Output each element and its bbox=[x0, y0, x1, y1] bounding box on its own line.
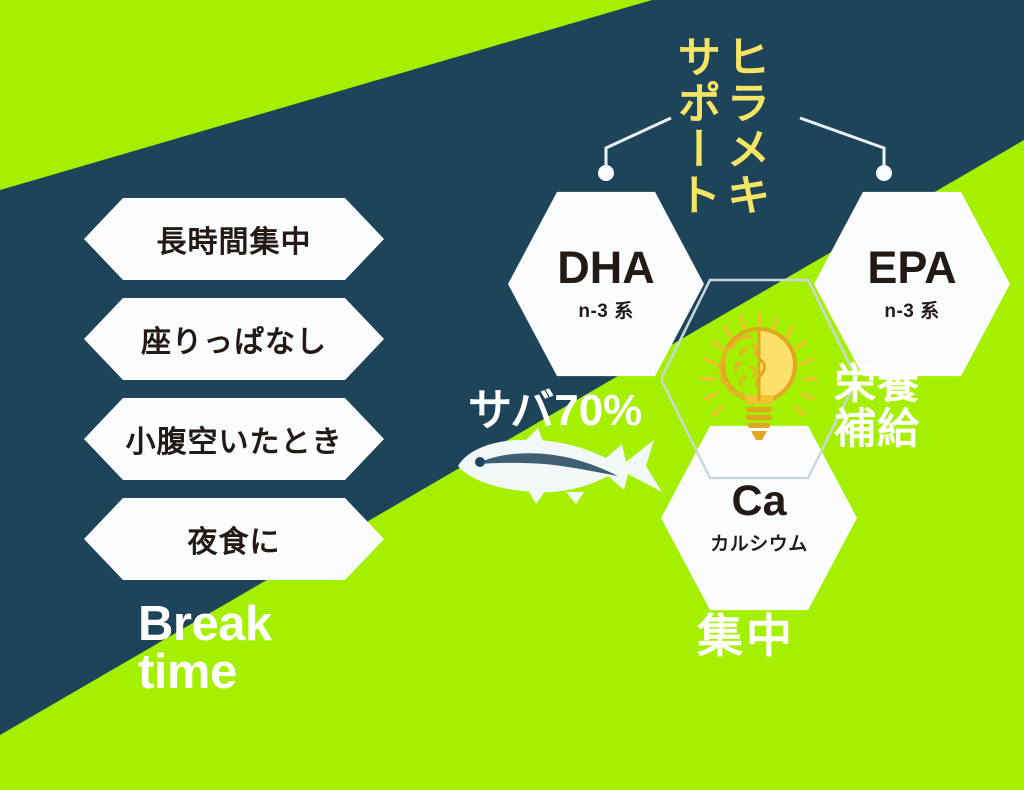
hex-ca-title: Ca bbox=[732, 480, 787, 523]
nutrition-line1: 栄養 bbox=[834, 362, 920, 407]
hex-ca-subtitle: カルシウム bbox=[710, 529, 808, 556]
connector-dot-right bbox=[876, 165, 892, 181]
nutrition-line2: 補給 bbox=[834, 407, 920, 452]
hex-epa-subtitle: n-3 系 bbox=[884, 296, 939, 323]
banner-label: 座りっぱなし bbox=[141, 317, 327, 361]
banner-label: 小腹空いたとき bbox=[126, 417, 343, 461]
hex-center-outline bbox=[661, 274, 857, 484]
banner-label: 夜食に bbox=[188, 517, 281, 561]
hex-epa-title: EPA bbox=[867, 245, 956, 290]
nutrition-caption: 栄養 補給 bbox=[834, 362, 920, 451]
connector-dot-left bbox=[598, 165, 614, 181]
connector-right bbox=[800, 118, 884, 165]
banner-label: 長時間集中 bbox=[157, 217, 312, 261]
focus-caption: 集中 bbox=[697, 600, 795, 666]
hex-dha-title: DHA bbox=[557, 245, 655, 290]
infographic-canvas: 長時間集中 座りっぱなし 小腹空いたとき 夜食に Break time ヒラメキ… bbox=[0, 0, 1024, 790]
hex-center-idea[interactable] bbox=[661, 274, 857, 484]
mackerel-fish-icon bbox=[440, 418, 680, 508]
connector-left bbox=[606, 118, 671, 165]
hex-dha-subtitle: n-3 系 bbox=[578, 296, 633, 323]
